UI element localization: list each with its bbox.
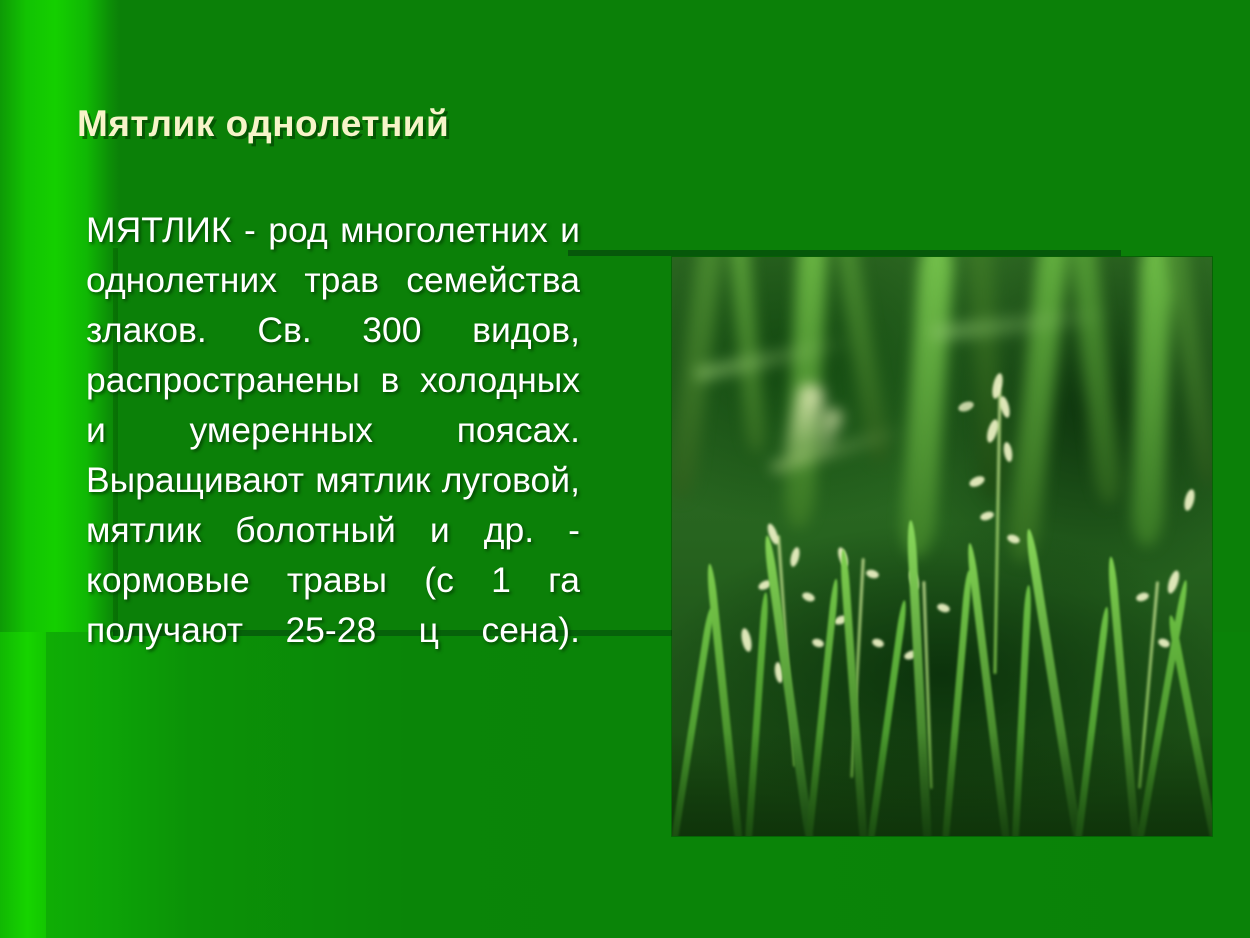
slide-title: Мятлик однолетний	[77, 103, 449, 145]
grass-photo	[672, 257, 1212, 836]
divider-line-horizontal-top	[568, 250, 1121, 256]
presentation-slide: Мятлик однолетний МЯТЛИК - род многолетн…	[0, 0, 1250, 938]
background-lower-left-highlight	[0, 632, 46, 938]
photo-bottom-shadow	[672, 732, 1212, 836]
slide-body-text: МЯТЛИК - род многолетних и однолетних тр…	[86, 205, 580, 705]
